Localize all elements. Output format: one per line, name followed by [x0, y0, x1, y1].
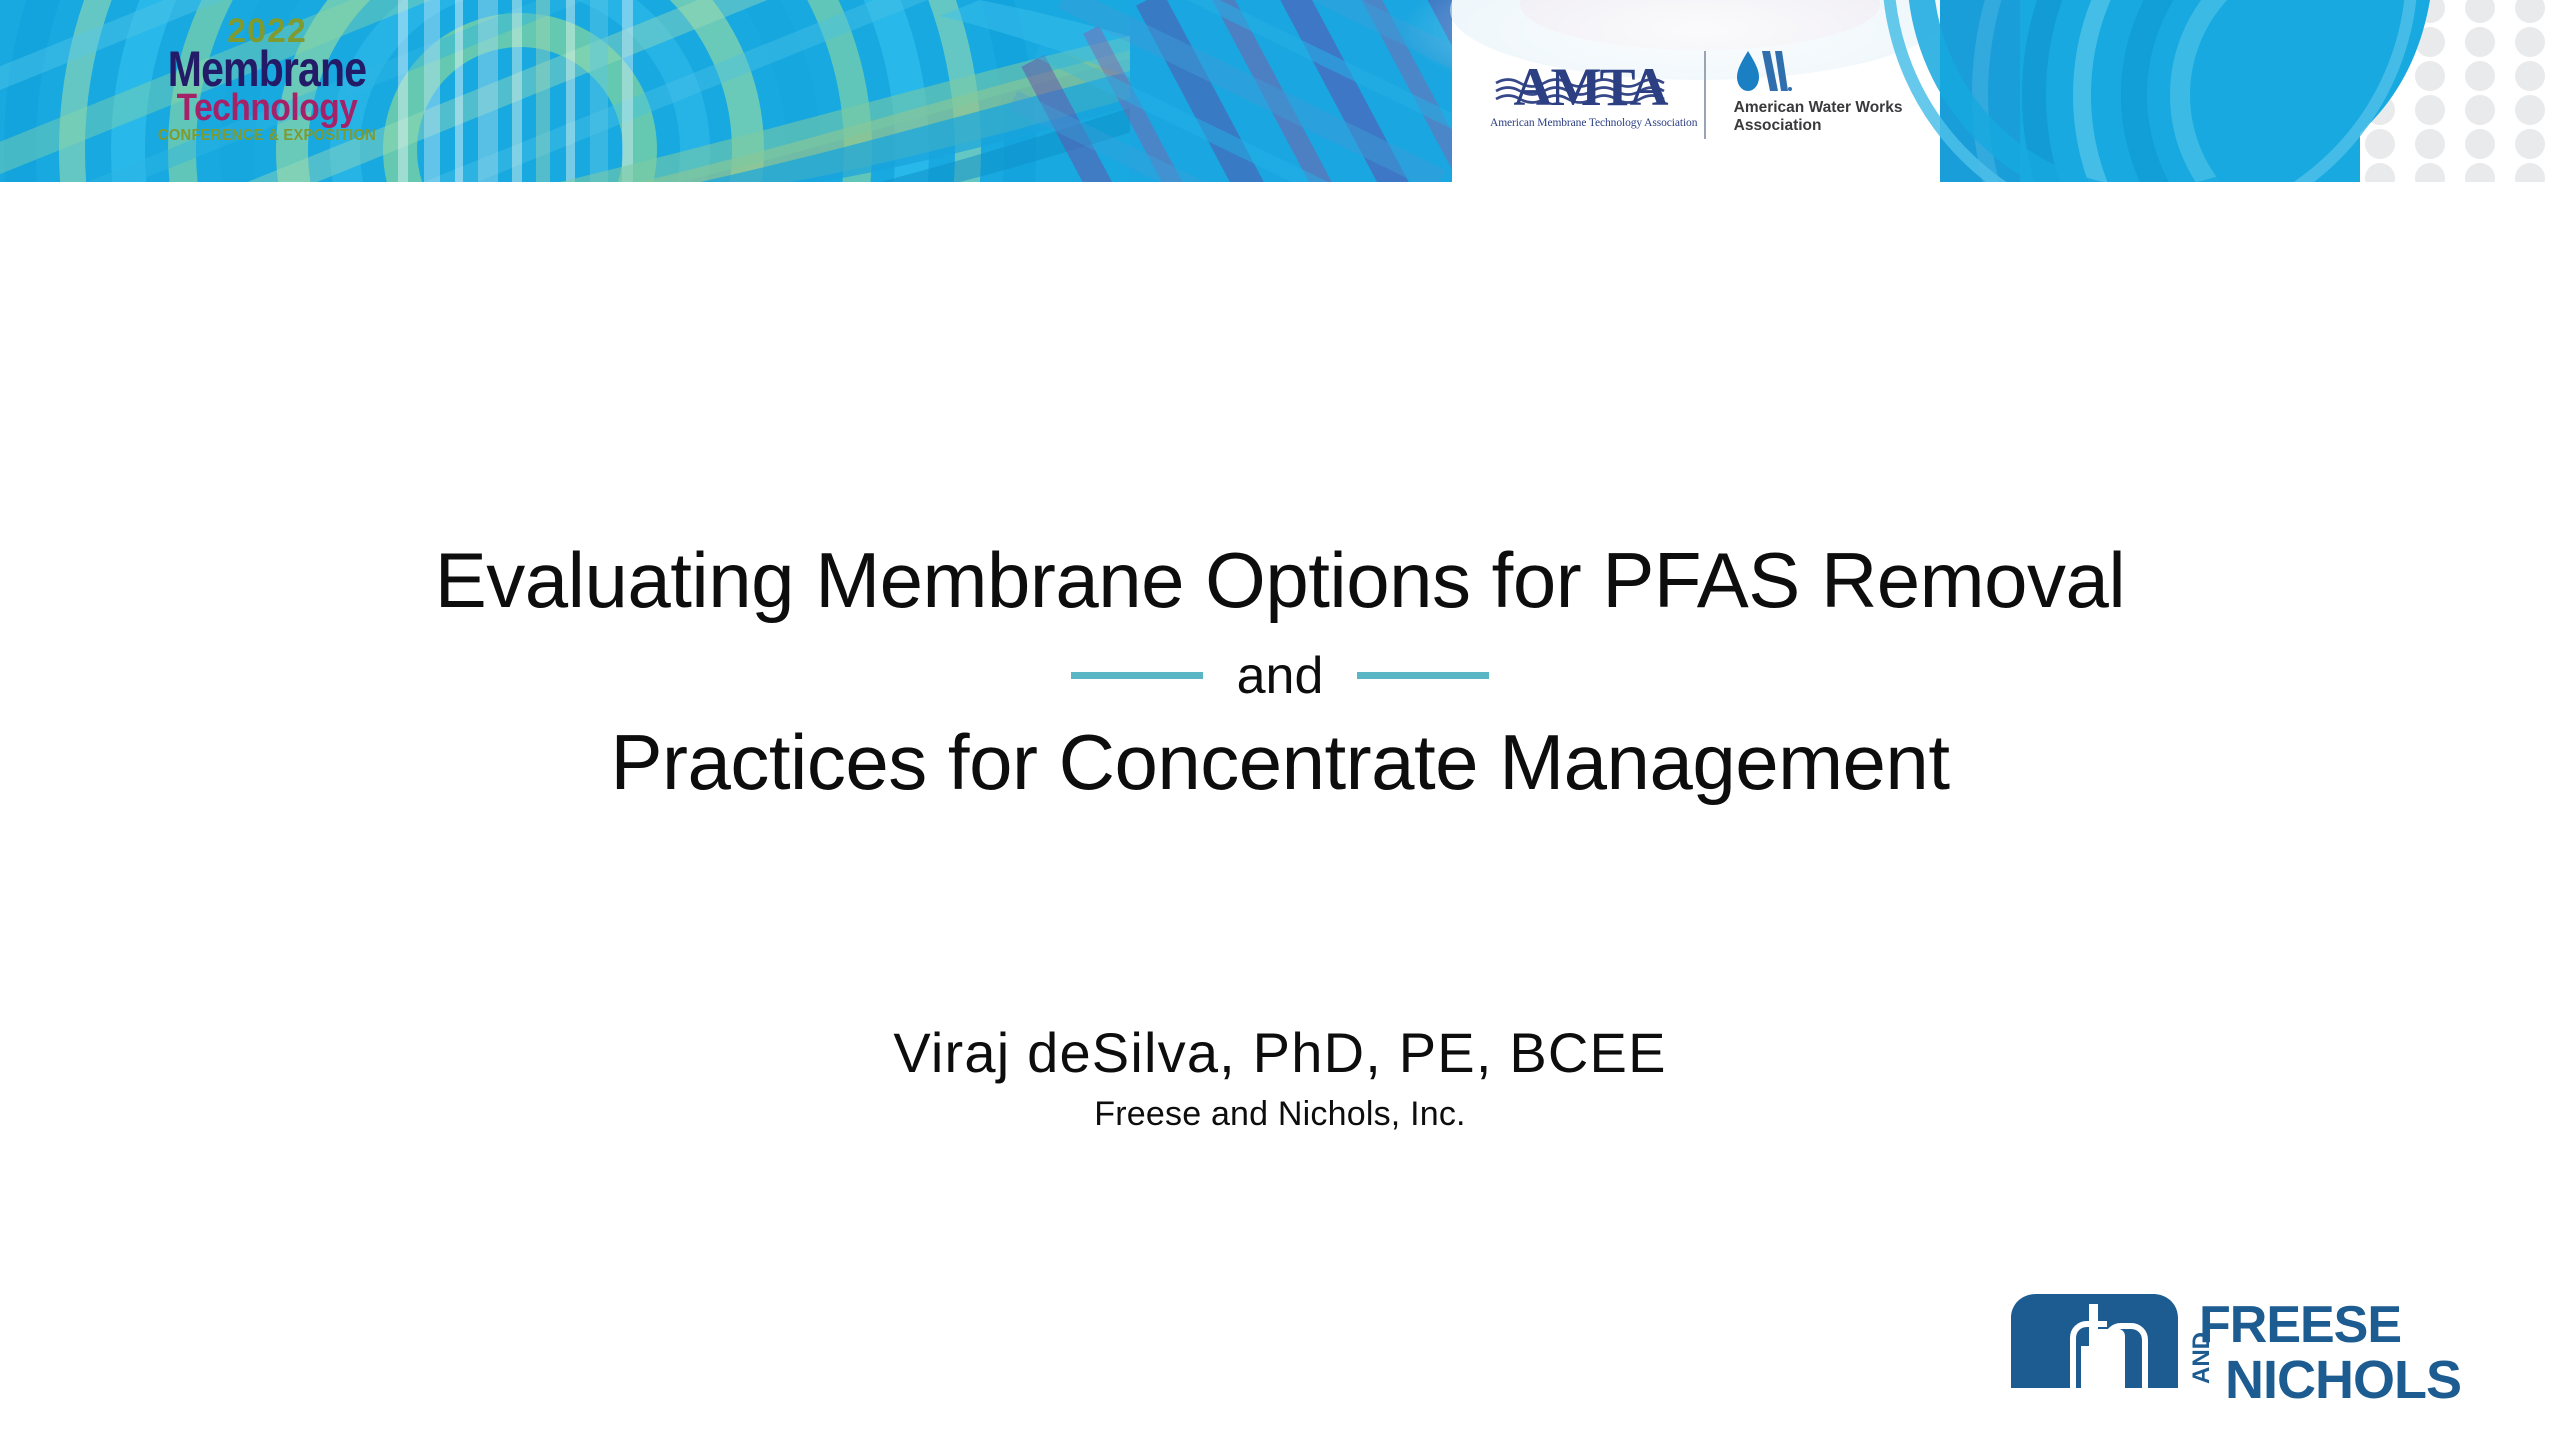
title-block: Evaluating Membrane Options for PFAS Rem…	[0, 540, 2560, 804]
presenter-block: Viraj deSilva, PhD, PE, BCEE Freese and …	[0, 1022, 2560, 1133]
amta-caption: American Membrane Technology Association	[1490, 117, 1690, 129]
slide-title-line-1: Evaluating Membrane Options for PFAS Rem…	[0, 540, 2560, 622]
title-conjunction-row: and	[0, 650, 2560, 702]
presenter-affiliation: Freese and Nichols, Inc.	[0, 1096, 2560, 1133]
title-conjunction: and	[1237, 650, 1324, 702]
association-logo-lockup: AMTA American Membrane Technology Associ…	[1490, 40, 1910, 150]
conference-logo-technology: Technology	[157, 89, 377, 127]
conference-logo: 2022 Membrane Technology CONFERENCE & EX…	[142, 14, 392, 174]
awwa-name: American Water Works Association	[1734, 99, 1920, 136]
divider-rule-right	[1357, 672, 1489, 679]
slide-title-line-2: Practices for Concentrate Management	[0, 722, 2560, 804]
conference-logo-subtitle: CONFERENCE & EXPOSITION	[152, 128, 382, 144]
fn-word-freese: FREESE	[2199, 1296, 2401, 1354]
awwa-name-line-1: American Water Works	[1734, 99, 1920, 117]
divider-rule-left	[1071, 672, 1203, 679]
presentation-slide: 2022 Membrane Technology CONFERENCE & EX…	[0, 0, 2560, 1440]
freese-and-nichols-mark-icon: FREESE AND NICHOLS	[2003, 1288, 2523, 1410]
presenter-name: Viraj deSilva, PhD, PE, BCEE	[0, 1022, 2560, 1084]
header-banner: 2022 Membrane Technology CONFERENCE & EX…	[0, 0, 2560, 182]
fn-word-and: AND	[2188, 1332, 2215, 1384]
lockup-divider	[1704, 51, 1706, 139]
fn-word-nichols: NICHOLS	[2225, 1350, 2461, 1410]
amta-wordmark-icon: AMTA	[1490, 55, 1690, 117]
awwa-logo: American Water Works Association	[1732, 47, 1910, 143]
awwa-name-line-2: Association	[1734, 117, 1920, 135]
freese-and-nichols-logo: FREESE AND NICHOLS	[2003, 1288, 2523, 1410]
amta-logo: AMTA American Membrane Technology Associ…	[1490, 49, 1678, 141]
awwa-droplet-icon	[1734, 47, 1792, 95]
